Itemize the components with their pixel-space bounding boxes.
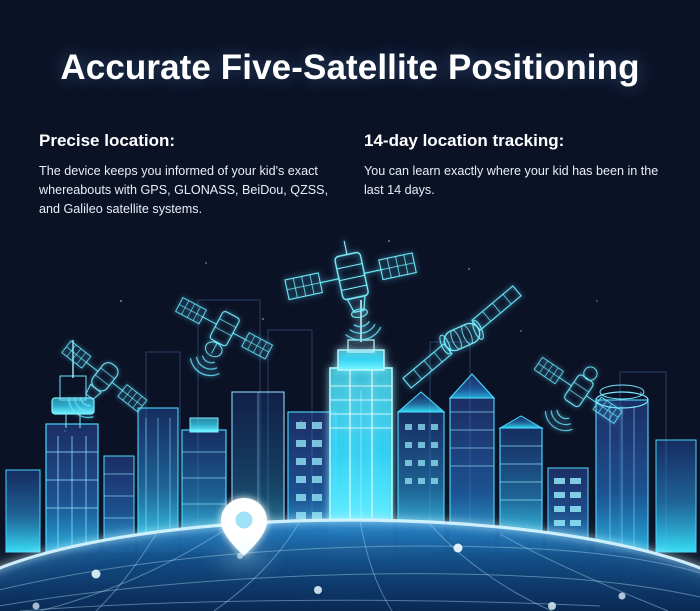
- satellite-upper-right: [387, 284, 537, 389]
- satellite-upper-left: [156, 291, 277, 397]
- promo-banner: Accurate Five-Satellite Positioning Prec…: [0, 0, 700, 611]
- illustration: [0, 0, 700, 611]
- column-location-tracking: 14-day location tracking: You can learn …: [364, 131, 664, 200]
- heading-location-tracking: 14-day location tracking:: [364, 131, 664, 151]
- heading-precise-location: Precise location:: [39, 131, 329, 151]
- body-location-tracking: You can learn exactly where your kid has…: [364, 162, 664, 200]
- satellites: [0, 0, 700, 611]
- column-precise-location: Precise location: The device keeps you i…: [39, 131, 329, 219]
- page-title: Accurate Five-Satellite Positioning: [0, 48, 700, 88]
- satellite-far-right: [514, 341, 634, 454]
- satellite-far-left: [38, 335, 151, 442]
- satellite-center-top: [280, 228, 428, 354]
- body-precise-location: The device keeps you informed of your ki…: [39, 162, 329, 219]
